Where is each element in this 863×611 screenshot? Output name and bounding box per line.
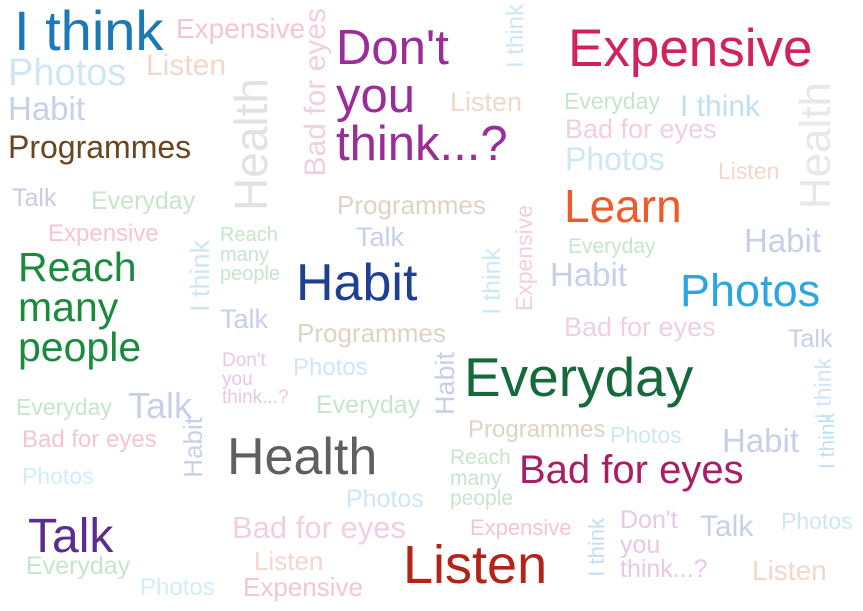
cloud-word-line: Reach [18,247,141,287]
cloud-word: Bad for eyes [565,116,717,143]
cloud-word: Programmes [337,192,486,218]
cloud-word: I think [480,248,505,315]
cloud-word: Health [794,82,838,209]
cloud-word: Bad for eyes [519,450,744,490]
cloud-word: Expensive [243,574,363,600]
cloud-word: Expensive [513,205,536,311]
cloud-word: Habit [744,224,821,257]
cloud-word: Photos [22,465,94,488]
cloud-word: Expensive [568,22,813,75]
cloud-word: Don'tyouthink...? [222,352,289,408]
cloud-word: Reachmanypeople [450,448,513,510]
cloud-word-line: people [18,327,141,367]
cloud-word: Everyday [26,554,130,579]
cloud-word: Bad for eyes [22,428,157,452]
cloud-word: Talk [12,186,56,211]
word-cloud-canvas: I thinkExpensivePhotosListenHabitProgram… [0,0,863,611]
cloud-word: I think [14,3,163,59]
cloud-word: Talk [788,327,832,352]
cloud-word: Photos [680,268,820,313]
cloud-word: Photos [346,487,424,512]
cloud-word: Expensive [48,222,159,246]
cloud-word-line: think...? [222,389,289,408]
cloud-word: Health [227,431,377,483]
cloud-word-line: Reach [450,448,513,469]
cloud-word: I think [187,240,214,312]
cloud-word: Habit [432,352,459,415]
cloud-word: Everyday [91,189,195,214]
cloud-word: I think [504,4,528,68]
cloud-word: Photos [140,576,215,600]
cloud-word-line: people [220,265,280,285]
cloud-word: Programmes [8,131,191,163]
cloud-word: Listen [146,51,226,81]
cloud-word-line: Don't [222,352,289,371]
cloud-word-line: many [450,469,513,490]
cloud-word-line: Don't [620,508,708,533]
cloud-word: Listen [752,557,827,585]
cloud-word: Photos [8,54,126,92]
cloud-word: Everyday [464,350,693,405]
cloud-word: Bad for eyes [232,512,406,543]
cloud-word: Reachmanypeople [18,247,141,368]
cloud-word: Learn [564,183,682,229]
cloud-word-line: think...? [336,120,508,168]
cloud-word: Everyday [316,393,420,418]
cloud-word-line: Reach [220,226,280,246]
cloud-word: Listen [254,548,323,574]
cloud-word: Don'tyouthink...? [620,508,708,582]
cloud-word: Talk [700,512,753,542]
cloud-word: Health [228,78,274,211]
cloud-word: Photos [565,143,665,175]
cloud-word: Habit [550,258,627,291]
cloud-word: Habit [8,92,85,125]
cloud-word: Photos [610,424,682,447]
cloud-word: Expensive [176,15,305,43]
cloud-word: Everyday [16,396,112,419]
cloud-word: Habit [296,257,417,309]
cloud-word: Talk [356,224,404,251]
cloud-word: Everyday [568,236,656,257]
cloud-word: Reachmanypeople [220,226,280,285]
cloud-word: Bad for eyes [564,314,716,341]
cloud-word: Listen [403,538,547,592]
cloud-word-line: think...? [620,557,708,582]
cloud-word-line: many [18,287,141,327]
cloud-word: Programmes [468,418,605,442]
cloud-word-line: you [620,533,708,558]
cloud-word-line: Don't [336,24,508,72]
cloud-word-line: people [450,489,513,510]
cloud-word: Programmes [297,320,446,346]
cloud-word: Bad for eyes [301,8,331,176]
cloud-word: Talk [220,306,268,333]
cloud-word: Photos [781,510,853,533]
cloud-word: Photos [293,356,368,380]
cloud-word: I think [812,358,835,419]
cloud-word: Listen [450,89,522,116]
cloud-word: Habit [180,417,206,478]
cloud-word: Everyday [564,90,660,113]
cloud-word: I think [586,518,608,577]
cloud-word: I think [817,413,838,469]
cloud-word: Listen [718,160,779,183]
